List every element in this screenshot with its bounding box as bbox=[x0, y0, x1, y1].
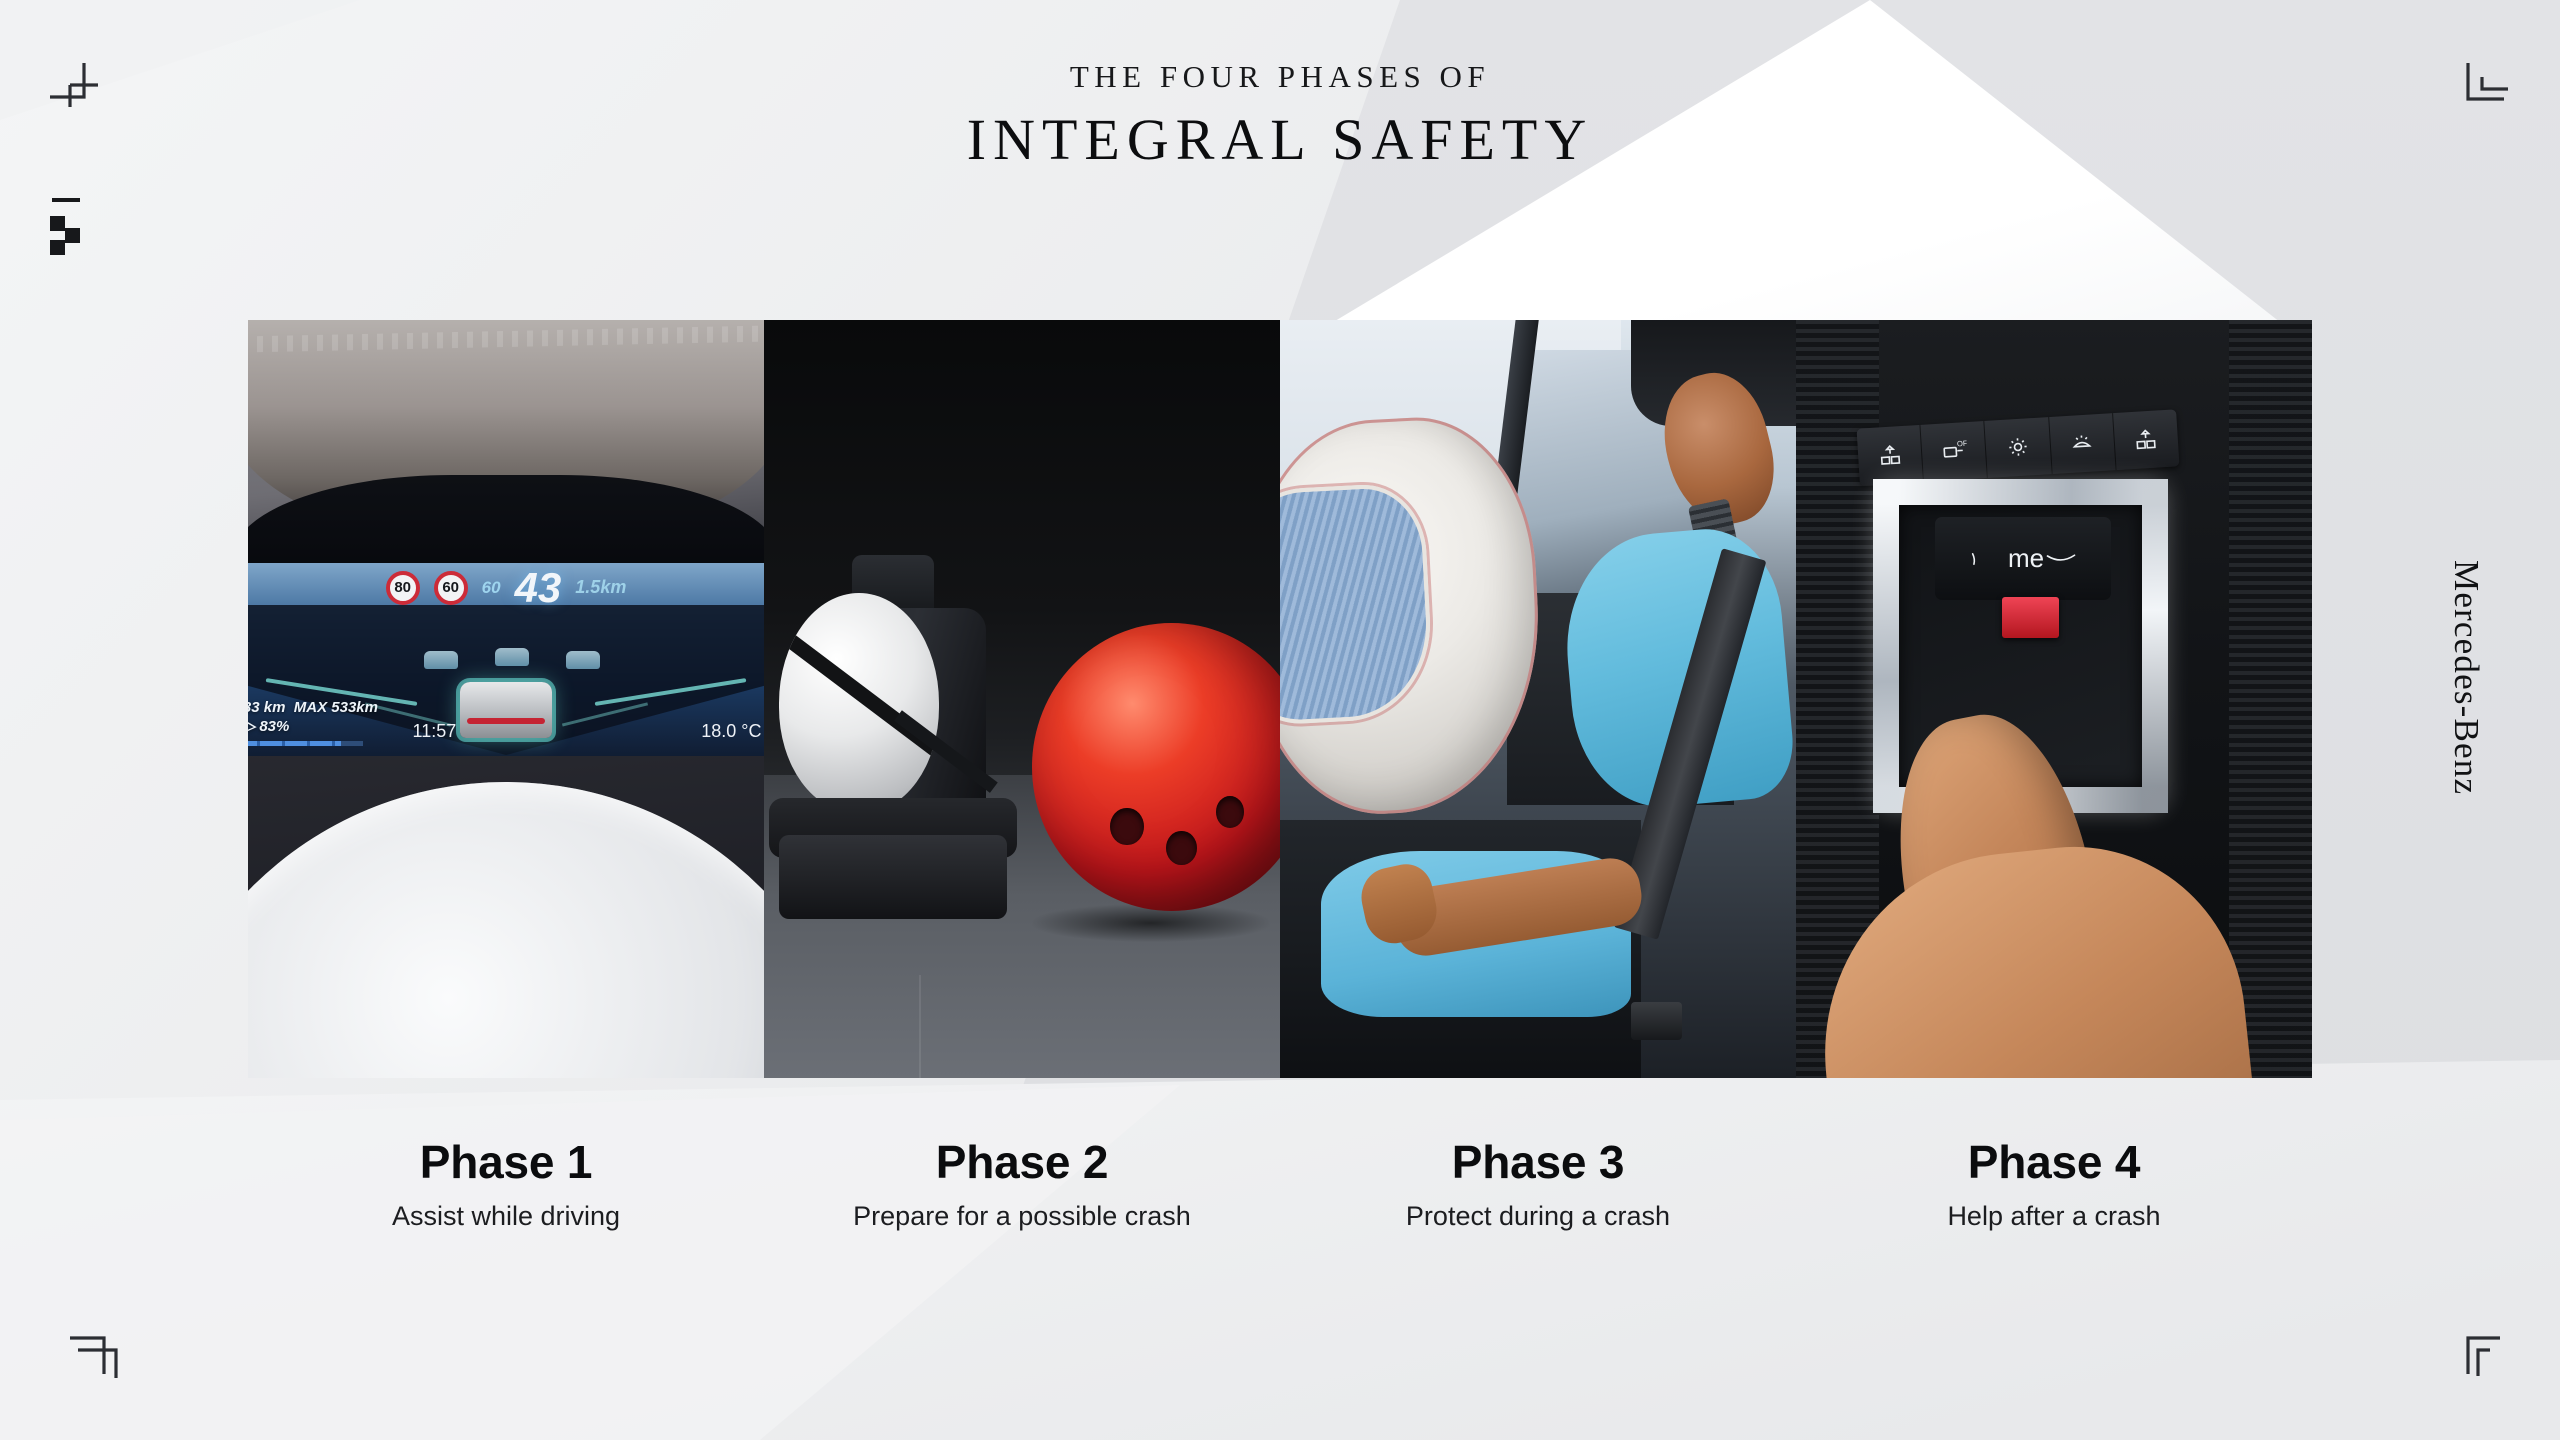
dashboard-stitching bbox=[248, 326, 764, 354]
speed-limit-sign-secondary: 60 bbox=[434, 571, 468, 605]
phase-3-title: Phase 3 bbox=[1280, 1138, 1796, 1186]
phase-image-3[interactable] bbox=[1280, 320, 1796, 1078]
phase-caption-row: Phase 1 Assist while driving Phase 2 Pre… bbox=[248, 1138, 2312, 1278]
phase-2-title: Phase 2 bbox=[764, 1138, 1280, 1186]
phase-caption-3: Phase 3 Protect during a crash bbox=[1280, 1138, 1796, 1278]
clock-readout: 11:57 bbox=[413, 721, 457, 742]
ambient-light-button[interactable] bbox=[1985, 417, 2053, 478]
interior-light-off-button[interactable]: OFF bbox=[1921, 421, 1989, 482]
crop-mark-bottom-right bbox=[2444, 1318, 2514, 1388]
battery-bar bbox=[248, 741, 363, 746]
phase-3-subtitle: Protect during a crash bbox=[1280, 1201, 1796, 1232]
page-title: INTEGRAL SAFETY bbox=[0, 108, 2560, 172]
ball-hole-2 bbox=[1166, 831, 1197, 866]
phase-1-subtitle: Assist while driving bbox=[248, 1201, 764, 1232]
console-button-strip[interactable]: OFF bbox=[1856, 409, 2179, 485]
svg-text:OFF: OFF bbox=[1956, 438, 1967, 448]
crop-mark-bottom-left bbox=[62, 1318, 132, 1388]
range-max-label: MAX bbox=[294, 699, 327, 716]
battery-icon: ■▷ bbox=[248, 718, 255, 735]
registration-mark bbox=[48, 198, 94, 260]
hud-info-row: 80 60 60 43 1.5km bbox=[248, 568, 764, 607]
speed-limit-sign-primary: 80 bbox=[386, 571, 420, 605]
header-eyebrow: THE FOUR PHASES OF bbox=[0, 60, 2560, 94]
phase-4-title: Phase 4 bbox=[1796, 1138, 2312, 1186]
assist-limit-value: 60 bbox=[482, 579, 501, 597]
phase-caption-2: Phase 2 Prepare for a possible crash bbox=[764, 1138, 1280, 1278]
seat-base bbox=[779, 835, 1006, 918]
ball-hole-1 bbox=[1110, 808, 1143, 845]
dome-light-button[interactable] bbox=[2049, 413, 2117, 474]
crash-test-dummy-photo bbox=[1280, 320, 1796, 1078]
battery-unit: % bbox=[276, 718, 289, 735]
current-speed-value: 43 bbox=[515, 564, 562, 612]
reading-light-left-button[interactable] bbox=[1856, 424, 1924, 485]
phone-handset-icon bbox=[1970, 551, 2004, 567]
phase-caption-4: Phase 4 Help after a crash bbox=[1796, 1138, 2312, 1278]
range-value: 533 km bbox=[248, 699, 285, 716]
phase-2-subtitle: Prepare for a possible crash bbox=[764, 1201, 1280, 1232]
reading-light-right-button[interactable] bbox=[2113, 409, 2180, 470]
cluster-screen: 80 60 60 43 1.5km 533 km MAX 533km ■▷ 83… bbox=[248, 563, 764, 756]
floor-seam bbox=[919, 975, 921, 1078]
phase-image-1[interactable]: 80 60 60 43 1.5km 533 km MAX 533km ■▷ 83… bbox=[248, 320, 764, 1078]
me-swoosh-icon bbox=[2046, 554, 2076, 564]
range-max-value: 533km bbox=[331, 699, 378, 716]
temperature-readout: 18.0 °C bbox=[701, 721, 761, 742]
traffic-car-left bbox=[424, 651, 458, 669]
overhead-console-photo: OFF bbox=[1796, 320, 2312, 1078]
me-text: me bbox=[2008, 543, 2044, 574]
phase-image-gallery: 80 60 60 43 1.5km 533 km MAX 533km ■▷ 83… bbox=[248, 320, 2312, 1078]
sos-emergency-button[interactable] bbox=[2002, 597, 2059, 639]
phase-caption-1: Phase 1 Assist while driving bbox=[248, 1138, 764, 1278]
seat-and-bowling-ball-photo bbox=[764, 320, 1280, 1078]
traffic-car-right bbox=[566, 651, 600, 669]
speaker-grille-right bbox=[2229, 320, 2312, 1078]
page-header: THE FOUR PHASES OF INTEGRAL SAFETY bbox=[0, 60, 2560, 172]
phase-4-subtitle: Help after a crash bbox=[1796, 1201, 2312, 1232]
ball-hole-3 bbox=[1216, 796, 1244, 828]
brand-wordmark: Mercedes-Benz bbox=[2436, 560, 2496, 860]
belt-buckle bbox=[1631, 1002, 1683, 1040]
traffic-car-center bbox=[495, 648, 529, 666]
mercedes-me-logo: me bbox=[1935, 517, 2110, 600]
instrument-cluster-photo: 80 60 60 43 1.5km 533 km MAX 533km ■▷ 83… bbox=[248, 320, 764, 1078]
seatbelt-over-egg bbox=[779, 593, 939, 813]
phase-image-4[interactable]: OFF bbox=[1796, 320, 2312, 1078]
phase-1-title: Phase 1 bbox=[248, 1138, 764, 1186]
phase-image-2[interactable] bbox=[764, 320, 1280, 1078]
distance-to-destination: 1.5km bbox=[575, 577, 626, 598]
battery-value: 83 bbox=[259, 718, 276, 735]
slide-canvas: THE FOUR PHASES OF INTEGRAL SAFETY Merce… bbox=[0, 0, 2560, 1440]
steering-wheel bbox=[248, 782, 764, 1078]
ego-vehicle-graphic bbox=[460, 682, 552, 738]
range-readout: 533 km MAX 533km ■▷ 83% bbox=[248, 699, 378, 746]
